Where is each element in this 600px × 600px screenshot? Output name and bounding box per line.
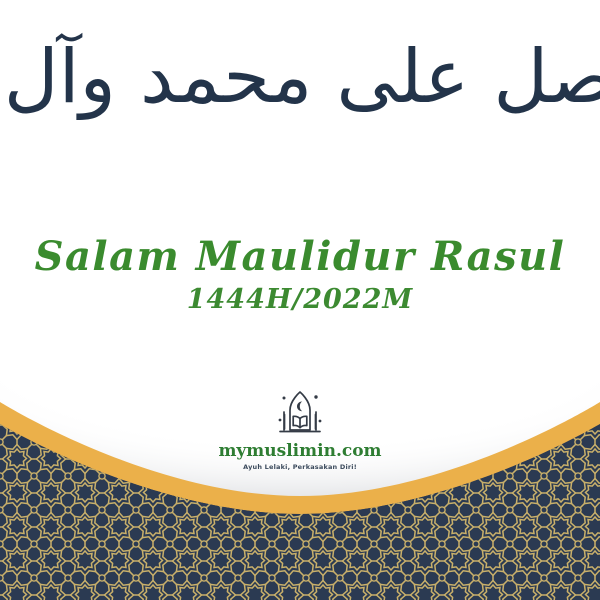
brand-block: mymuslimin.com Ayuh Lelaki, Perkasakan D… — [0, 388, 600, 471]
brand-name[interactable]: mymuslimin.com — [0, 443, 600, 460]
greeting-block: Salam Maulidur Rasul 1444H/2022M — [0, 236, 600, 314]
arabic-calligraphy-text: اللهم صل على محمد وآل محمد — [0, 28, 600, 128]
mosque-arch-icon — [272, 388, 328, 440]
greeting-year: 1444H/2022M — [0, 286, 600, 314]
brand-tagline: Ayuh Lelaki, Perkasakan Diri! — [0, 464, 600, 471]
greeting-title: Salam Maulidur Rasul — [0, 236, 600, 278]
greeting-card: اللهم صل على محمد وآل محمد Salam Maulidu… — [0, 0, 600, 600]
arabic-calligraphy-banner: اللهم صل على محمد وآل محمد — [0, 0, 600, 155]
